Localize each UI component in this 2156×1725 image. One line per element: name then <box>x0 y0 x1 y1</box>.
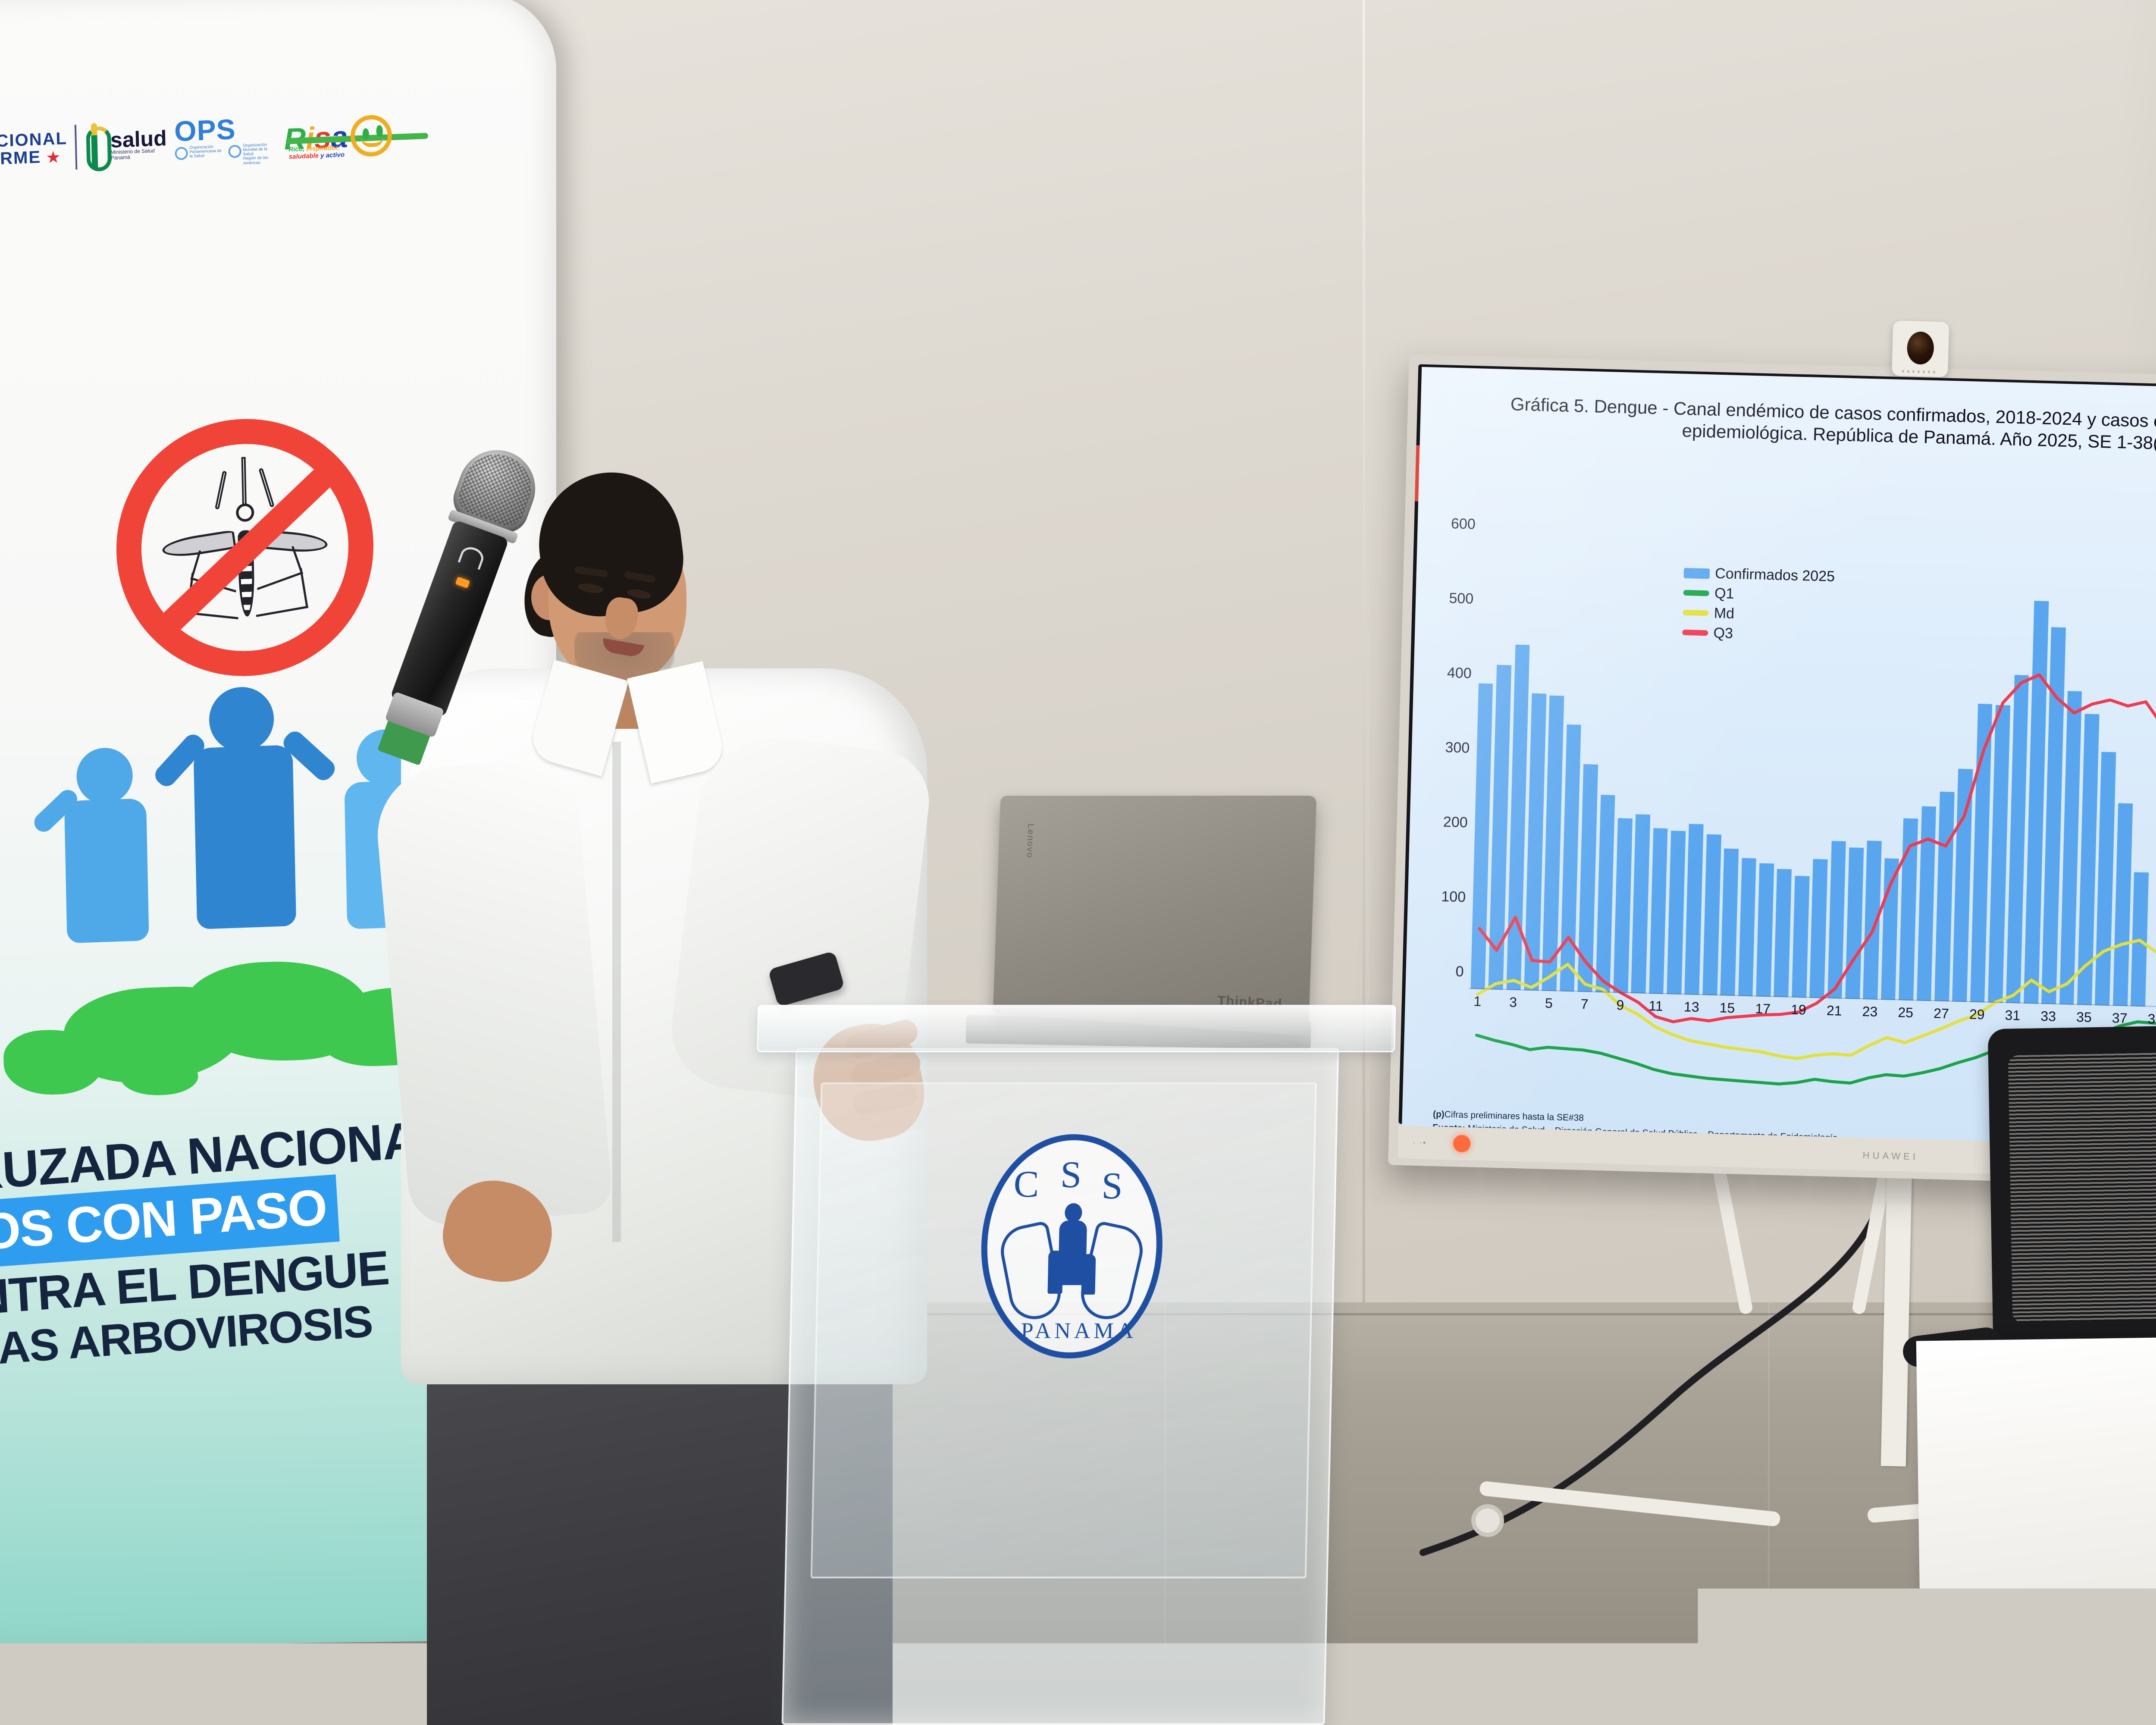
chart-legend: Confirmados 2025Q1MdQ3 <box>1682 565 1835 648</box>
laptop-brand: Lenovo <box>1025 824 1036 859</box>
logo-divider <box>75 125 78 169</box>
chart-x-tick: 13 <box>1684 999 1700 1016</box>
chart-y-tick: 100 <box>1441 888 1466 906</box>
legend-item: Confirmados 2025 <box>1684 565 1835 585</box>
chart-x-tick: 5 <box>1545 995 1553 1011</box>
css-letter-c: C <box>1013 1163 1040 1206</box>
footnote-marker: (p) <box>1433 1109 1445 1120</box>
chart-x-tick: 17 <box>1755 1001 1771 1017</box>
legend-label: Md <box>1714 605 1734 622</box>
legend-label: Q1 <box>1714 585 1734 602</box>
laptop[interactable]: Lenovo ThinkPad <box>984 790 1310 1030</box>
paho-globe-icon <box>175 147 188 160</box>
css-country-label: PANAMA <box>1021 1318 1119 1344</box>
ops-sub1: Organización Panamericana de la Salud <box>189 144 223 159</box>
legend-label: Confirmados 2025 <box>1715 565 1835 585</box>
footnote-text: Cifras preliminares hasta la SE#38 <box>1445 1110 1584 1123</box>
legend-label: Q3 <box>1713 625 1733 642</box>
draped-table <box>1916 1333 2156 1725</box>
chart-x-tick: 31 <box>2005 1007 2021 1024</box>
legend-swatch <box>1683 610 1709 616</box>
salud-wordmark: salud <box>110 129 167 150</box>
chart-plot-area: Número de casos 0100200300400500600 1357… <box>1469 541 2156 1013</box>
chart-x-tick: 1 <box>1473 994 1482 1010</box>
css-letter-s1: S <box>1060 1153 1082 1197</box>
chart-x-tick: 15 <box>1719 1000 1735 1016</box>
chart-x-tick: 39 <box>2147 1011 2156 1028</box>
family-icon <box>1041 1203 1102 1302</box>
star-icon: ★ <box>47 149 61 166</box>
chart-x-tick: 23 <box>1862 1004 1878 1020</box>
chart-y-tick: 500 <box>1449 590 1474 607</box>
ops-wordmark: OPS <box>174 116 236 144</box>
ops-logo: OPS Organización Panamericana de la Salu… <box>174 114 277 168</box>
chart-x-tick: 37 <box>2112 1010 2128 1027</box>
chart-y-tick: 300 <box>1445 739 1470 756</box>
chart-x-tick: 27 <box>1934 1006 1949 1022</box>
chart-y-tick: 400 <box>1447 665 1472 682</box>
chart-x-tick: 7 <box>1580 996 1589 1012</box>
chart-x-tick: 29 <box>1969 1007 1985 1023</box>
ops-sub2: Organización Mundial de la Salud <box>243 142 277 157</box>
stand-caster-left <box>1471 1504 1504 1537</box>
css-panama-logo: C S S PANAMA <box>979 1134 1165 1358</box>
salud-logo: salud Ministerio de Salud Panamá <box>84 120 167 170</box>
acrylic-podium: C S S PANAMA <box>743 1005 1396 1725</box>
chart-x-tick: 19 <box>1791 1002 1807 1018</box>
legend-swatch <box>1684 568 1710 579</box>
chart-x-tick: 9 <box>1616 997 1624 1013</box>
legend-swatch <box>1683 590 1709 596</box>
who-globe-icon <box>228 144 241 158</box>
chart-y-tick: 600 <box>1451 515 1476 533</box>
presentation-scene: ACIONAL FIRME ★ salud Ministerio de Salu… <box>0 0 2156 1725</box>
no-mosquito-icon <box>91 392 399 704</box>
css-letter-s2: S <box>1101 1164 1123 1208</box>
legend-item: Md <box>1683 604 1834 625</box>
display-bezel-mark: · ·▪ <box>1413 1139 1427 1147</box>
display-brand-logo: HUAWEI <box>1862 1150 1918 1162</box>
chart-x-tick: 21 <box>1827 1003 1843 1019</box>
risa-logo: Risa Rico, inspirador, saludable y activ… <box>284 114 392 160</box>
chart-x-tick: 3 <box>1509 994 1517 1010</box>
chart-x-tick: 25 <box>1898 1005 1914 1021</box>
chart-x-tick: 33 <box>2040 1008 2056 1025</box>
banner-logo-row: ACIONAL FIRME ★ salud Ministerio de Salu… <box>0 96 556 183</box>
chart-line-q3 <box>1477 660 2156 1040</box>
firme-line2: FIRME <box>0 147 41 169</box>
legend-swatch <box>1683 630 1708 636</box>
slide-title: Gráfica 5. Dengue - Canal endémico de ca… <box>1471 392 2156 460</box>
chart-y-tick: 200 <box>1443 814 1468 831</box>
chart-x-tick: 11 <box>1648 998 1663 1014</box>
chart-y-tick: 0 <box>1455 963 1464 980</box>
ops-sub3: Región de las Américas <box>243 156 277 166</box>
firme-logo: ACIONAL FIRME ★ <box>0 130 68 168</box>
legend-item: Q3 <box>1682 624 1833 645</box>
webcam-icon <box>1892 320 1949 377</box>
smiley-face-icon <box>350 114 392 157</box>
risa-tagline: Rico, inspirador, saludable y activo <box>288 144 348 160</box>
asclepius-icon <box>84 122 108 170</box>
legend-item: Q1 <box>1683 584 1835 605</box>
chart-x-tick: 35 <box>2076 1009 2092 1026</box>
